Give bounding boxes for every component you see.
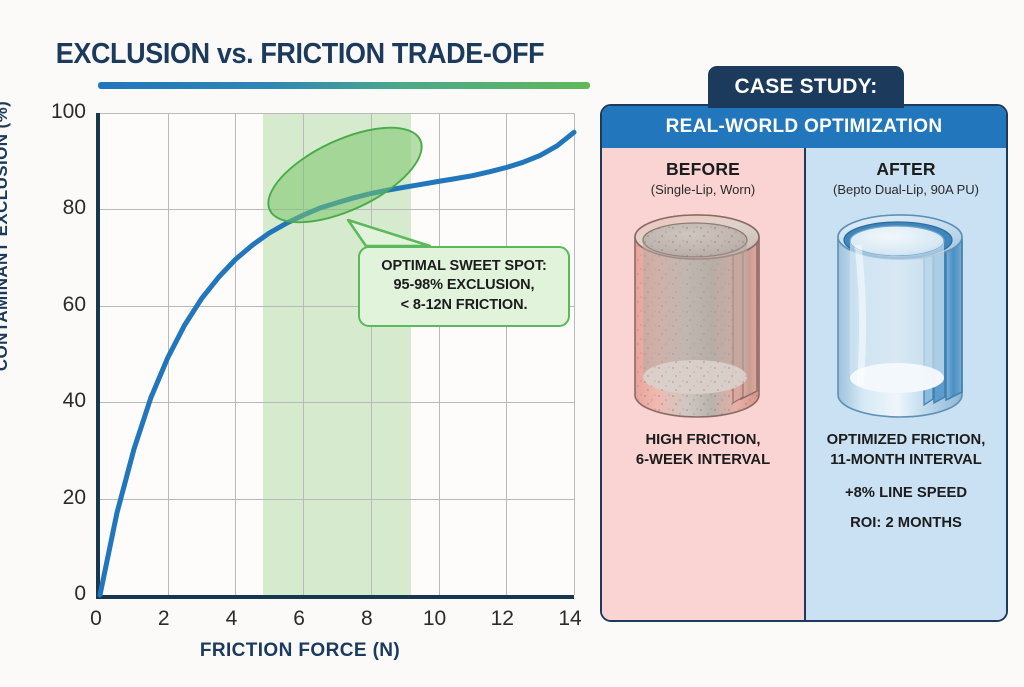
comparison-column-before: BEFORE (Single-Lip, Worn) <box>602 148 804 621</box>
before-caption: HIGH FRICTION, 6-WEEK INTERVAL <box>636 431 770 471</box>
before-caption-line-2: 6-WEEK INTERVAL <box>636 451 770 471</box>
x-tick-label: 10 <box>415 607 455 631</box>
y-tick-label: 40 <box>44 389 86 413</box>
y-axis-label: CONTAMINANT EXCLUSION (%) <box>0 101 12 371</box>
comparison-columns: BEFORE (Single-Lip, Worn) <box>602 148 1006 621</box>
after-metric-line-speed: +8% LINE SPEED <box>827 485 986 501</box>
case-study-header: REAL-WORLD OPTIMIZATION <box>602 106 1006 148</box>
case-study-body: REAL-WORLD OPTIMIZATION BEFORE (Single-L… <box>600 104 1008 622</box>
chart-title: EXCLUSION vs. FRICTION TRADE-OFF <box>21 38 579 71</box>
sweet-spot-callout: OPTIMAL SWEET SPOT: 95-98% EXCLUSION, < … <box>358 246 570 327</box>
x-tick-label: 2 <box>144 607 184 631</box>
y-tick-label: 100 <box>44 100 86 124</box>
title-underline-accent <box>98 82 590 89</box>
infographic-root: EXCLUSION vs. FRICTION TRADE-OFF CONTAMI… <box>0 0 1024 687</box>
before-subtitle: (Single-Lip, Worn) <box>651 182 756 197</box>
after-caption: OPTIMIZED FRICTION, 11-MONTH INTERVAL +8… <box>827 431 986 531</box>
y-tick-label: 60 <box>44 293 86 317</box>
y-tick-label: 20 <box>44 486 86 510</box>
x-tick-label: 6 <box>279 607 319 631</box>
x-tick-label: 8 <box>347 607 387 631</box>
x-axis-label: FRICTION FORCE (N) <box>0 640 600 662</box>
x-tick-label: 4 <box>211 607 251 631</box>
x-tick-label: 0 <box>76 607 116 631</box>
gridline-vertical <box>574 113 575 595</box>
after-title: AFTER <box>876 159 935 180</box>
callout-line-1: OPTIMAL SWEET SPOT: <box>368 257 560 276</box>
after-subtitle: (Bepto Dual-Lip, 90A PU) <box>833 182 979 197</box>
after-metric-roi: ROI: 2 MONTHS <box>827 515 986 531</box>
before-caption-line-1: HIGH FRICTION, <box>636 431 770 451</box>
y-tick-label: 80 <box>44 196 86 220</box>
y-tick-label: 0 <box>44 582 86 606</box>
plot-canvas: OPTIMAL SWEET SPOT: 95-98% EXCLUSION, < … <box>96 113 574 599</box>
after-caption-line-1: OPTIMIZED FRICTION, <box>827 431 986 451</box>
new-dual-lip-seal-icon <box>832 211 980 421</box>
before-title: BEFORE <box>666 159 740 180</box>
x-tick-label: 14 <box>550 607 590 631</box>
case-study-tab: CASE STUDY: <box>708 66 904 108</box>
callout-line-3: < 8-12N FRICTION. <box>368 296 560 315</box>
after-caption-line-2: 11-MONTH INTERVAL <box>827 451 986 471</box>
x-tick-label: 12 <box>482 607 522 631</box>
callout-line-2: 95-98% EXCLUSION, <box>368 276 560 295</box>
chart-panel: EXCLUSION vs. FRICTION TRADE-OFF CONTAMI… <box>0 0 600 687</box>
case-study-panel: CASE STUDY: REAL-WORLD OPTIMIZATION BEFO… <box>600 66 1008 622</box>
callout-tail <box>100 113 574 595</box>
plot-area: OPTIMAL SWEET SPOT: 95-98% EXCLUSION, < … <box>96 113 574 599</box>
comparison-column-after: AFTER (Bepto Dual-Lip, 90A PU) <box>804 148 1006 621</box>
worn-single-lip-seal-icon <box>629 211 777 421</box>
